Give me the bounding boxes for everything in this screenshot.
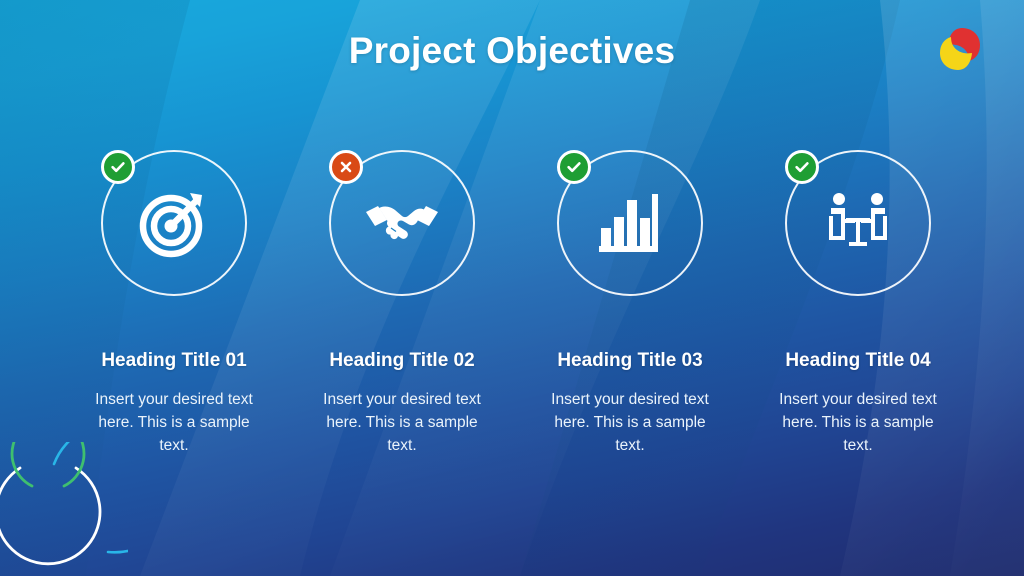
objective-column-2[interactable]: Heading Title 02 Insert your desired tex… [294,148,510,458]
objective-heading: Heading Title 02 [329,350,474,372]
icon-circle-1[interactable] [99,148,249,298]
objective-column-1[interactable]: Heading Title 01 Insert your desired tex… [66,148,282,458]
status-badge-cross [329,150,363,184]
icon-circle-3[interactable] [555,148,705,298]
check-icon [793,158,811,176]
status-badge-check [101,150,135,184]
objective-heading: Heading Title 01 [101,350,246,372]
check-icon [109,158,127,176]
objective-body: Insert your desired text here. This is a… [770,389,946,458]
objective-column-4[interactable]: Heading Title 04 Insert your desired tex… [750,148,966,458]
objective-body: Insert your desired text here. This is a… [314,389,490,458]
objective-heading: Heading Title 03 [557,350,702,372]
objective-heading: Heading Title 04 [785,350,930,372]
check-icon [565,158,583,176]
icon-circle-4[interactable] [783,148,933,298]
status-badge-check [557,150,591,184]
status-badge-check [785,150,819,184]
concentric-arcs-decoration [0,442,128,576]
icon-circle-2[interactable] [327,148,477,298]
brand-logo [938,26,982,72]
page-title: Project Objectives [0,30,1024,72]
objectives-row: Heading Title 01 Insert your desired tex… [66,148,966,458]
objective-column-3[interactable]: Heading Title 03 Insert your desired tex… [522,148,738,458]
slide-canvas: Project Objectives [0,0,1024,576]
objective-body: Insert your desired text here. This is a… [542,389,718,458]
cross-icon [337,158,355,176]
